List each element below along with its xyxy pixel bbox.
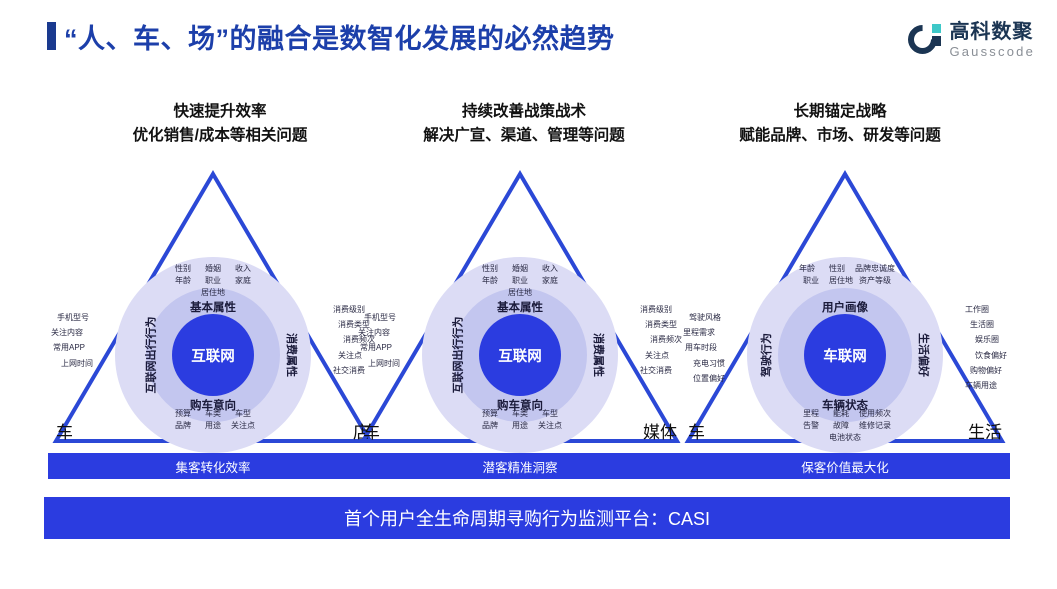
outer-label: 社交消费	[638, 363, 682, 378]
core-label: 互联网	[191, 345, 235, 366]
outer-label: 家庭	[228, 275, 258, 287]
outer-label: 告警	[796, 420, 826, 432]
footer-banner: 首个用户全生命周期寻购行为监测平台：CASI	[44, 497, 1010, 539]
ring-label-right: 消费属性	[284, 333, 300, 377]
column-header-line2: 优化销售/成本等相关问题	[70, 124, 370, 148]
triangle-corner-right-label: 生活	[968, 418, 1002, 443]
outer-label: 充电习惯	[683, 356, 725, 371]
outer-label-row: 预算车类车型	[475, 408, 565, 420]
column-header-2: 持续改善战策战术 解决广宣、渠道、管理等问题	[374, 100, 674, 148]
slide-root: “人、车、场”的融合是数智化发展的必然趋势 高科数聚 Gausscode 快速提…	[0, 0, 1057, 589]
outer-label: 收入	[228, 263, 258, 275]
outer-label: 品牌	[475, 420, 505, 432]
column-header-3: 长期锚定战略 赋能品牌、市场、研发等问题	[690, 100, 990, 148]
triangle-group-2: 人 车 媒体 互联网 基本属性 购车意向 互联网出行行为 消费属性 互联网 性别…	[355, 160, 685, 445]
outer-label-row: 年龄性别品牌忠诚度	[792, 263, 898, 275]
outer-label-row: 性别婚姻收入	[168, 263, 258, 275]
outer-label: 资产等级	[856, 275, 894, 287]
outer-label: 关注内容	[51, 325, 93, 340]
page-title: “人、车、场”的融合是数智化发展的必然趋势	[64, 17, 615, 56]
ring-core: 车联网	[804, 314, 886, 396]
outer-label-row: 告警故障维修记录	[796, 420, 894, 432]
logo-mark-icon	[908, 23, 942, 57]
outer-label: 消费类型	[638, 317, 682, 332]
outer-label: 里程	[796, 408, 826, 420]
outer-label: 车类	[198, 408, 228, 420]
column-header-line1: 快速提升效率	[70, 100, 370, 124]
triangle-corner-left-label: 车	[56, 418, 73, 443]
outer-label: 性别	[822, 263, 852, 275]
outer-label: 位置偏好	[683, 371, 725, 386]
outer-label: 手机型号	[358, 310, 400, 325]
outer-label: 车类	[505, 408, 535, 420]
outer-labels-top-2: 性别婚姻收入年龄职业家庭居住地	[475, 263, 565, 299]
ring-core: 互联网	[172, 314, 254, 396]
triangle-group-1: 人 车 店 互联网 基本属性 购车意向 互联网出行行为 消费属性 互联网 性别婚…	[48, 160, 378, 445]
outer-label: 年龄	[792, 263, 822, 275]
outer-label: 上网时间	[358, 356, 400, 371]
outer-label: 消费频次	[638, 332, 682, 347]
outer-label: 品牌忠诚度	[852, 263, 898, 275]
outer-labels-left-1: 手机型号关注内容常用APP上网时间	[51, 310, 93, 371]
outer-labels-right-2: 消费级别消费类型消费频次关注点社交消费	[638, 302, 682, 378]
outer-label: 品牌	[168, 420, 198, 432]
outer-label: 常用APP	[358, 340, 400, 355]
triangle-corner-left-label: 车	[688, 418, 705, 443]
outer-label: 收入	[535, 263, 565, 275]
outer-label-row: 性别婚姻收入	[475, 263, 565, 275]
outer-label: 性别	[168, 263, 198, 275]
company-logo: 高科数聚 Gausscode	[908, 18, 1035, 62]
outer-label: 使用频次	[856, 408, 894, 420]
core-label: 车联网	[823, 345, 867, 366]
outer-label: 能耗	[826, 408, 856, 420]
outer-label-row: 居住地	[168, 287, 258, 299]
ring-label-top: 基本属性	[422, 299, 618, 315]
outer-labels-left-2: 手机型号关注内容常用APP上网时间	[358, 310, 400, 371]
outer-label: 用途	[198, 420, 228, 432]
outer-label: 里程需求	[683, 325, 725, 340]
outer-label: 性别	[475, 263, 505, 275]
outer-label: 车型	[228, 408, 258, 420]
column-header-line1: 长期锚定战略	[690, 100, 990, 124]
logo-name-en: Gausscode	[949, 45, 1035, 58]
outer-label: 驾驶风格	[683, 310, 725, 325]
outer-label: 用途	[505, 420, 535, 432]
outer-label: 关注点	[638, 348, 682, 363]
triangle-corner-left-label: 车	[363, 418, 380, 443]
outer-label: 消费级别	[638, 302, 682, 317]
triangle-banner-3: 保客价值最大化	[680, 453, 1010, 479]
outer-label: 电池状态	[826, 432, 864, 444]
outer-label: 关注内容	[358, 325, 400, 340]
outer-label: 婚姻	[198, 263, 228, 275]
outer-labels-bottom-3: 里程能耗使用频次告警故障维修记录电池状态	[796, 408, 894, 444]
column-header-line2: 解决广宣、渠道、管理等问题	[374, 124, 674, 148]
outer-label: 家庭	[535, 275, 565, 287]
ring-label-right: 生活偏好	[916, 333, 932, 377]
outer-label-row: 年龄职业家庭	[168, 275, 258, 287]
outer-label: 婚姻	[505, 263, 535, 275]
ring-label-left: 驾驶行为	[758, 333, 774, 377]
ring-label-right: 消费属性	[591, 333, 607, 377]
outer-label: 居住地	[826, 275, 856, 287]
outer-label-row: 里程能耗使用频次	[796, 408, 894, 420]
outer-label: 年龄	[168, 275, 198, 287]
outer-label: 车辆用途	[965, 378, 1007, 393]
outer-label: 居住地	[198, 287, 228, 299]
outer-label: 车型	[535, 408, 565, 420]
outer-labels-right-3: 工作圈生活圈娱乐圈饮食偏好购物偏好车辆用途	[965, 302, 1007, 393]
slide-header: “人、车、场”的融合是数智化发展的必然趋势 高科数聚 Gausscode	[0, 0, 1057, 70]
outer-label: 上网时间	[51, 356, 93, 371]
outer-labels-left-3: 驾驶风格里程需求用车时段充电习惯位置偏好	[683, 310, 725, 386]
ring-label-top: 用户画像	[747, 299, 943, 315]
outer-label-row: 居住地	[475, 287, 565, 299]
outer-labels-bottom-1: 预算车类车型品牌用途关注点	[168, 408, 258, 432]
outer-label-row: 职业居住地资产等级	[792, 275, 898, 287]
column-header-line2: 赋能品牌、市场、研发等问题	[690, 124, 990, 148]
triangle-banner-2: 潜客精准洞察	[355, 453, 685, 479]
ring-label-left: 互联网出行行为	[143, 317, 159, 394]
outer-label: 故障	[826, 420, 856, 432]
outer-label: 手机型号	[51, 310, 93, 325]
outer-label-row: 预算车类车型	[168, 408, 258, 420]
triangle-group-3: 人 车 生活 车联网 用户画像 车辆状态 驾驶行为 生活偏好 车联网 年龄性别品…	[680, 160, 1010, 445]
ring-label-top: 基本属性	[115, 299, 311, 315]
outer-label-row: 品牌用途关注点	[475, 420, 565, 432]
outer-label-row: 年龄职业家庭	[475, 275, 565, 287]
outer-labels-top-1: 性别婚姻收入年龄职业家庭居住地	[168, 263, 258, 299]
triangle-banner-1: 集客转化效率	[48, 453, 378, 479]
outer-label: 娱乐圈	[965, 332, 1007, 347]
outer-label: 预算	[475, 408, 505, 420]
outer-label: 生活圈	[965, 317, 1007, 332]
outer-label-row: 品牌用途关注点	[168, 420, 258, 432]
outer-labels-bottom-2: 预算车类车型品牌用途关注点	[475, 408, 565, 432]
outer-label: 用车时段	[683, 340, 725, 355]
outer-label: 预算	[168, 408, 198, 420]
outer-label: 关注点	[228, 420, 258, 432]
ring-core: 互联网	[479, 314, 561, 396]
outer-label: 常用APP	[51, 340, 93, 355]
outer-label: 职业	[796, 275, 826, 287]
outer-label: 关注点	[535, 420, 565, 432]
outer-label: 居住地	[505, 287, 535, 299]
triangle-corner-right-label: 媒体	[643, 418, 677, 443]
outer-label: 维修记录	[856, 420, 894, 432]
outer-label-row: 电池状态	[796, 432, 894, 444]
ring-label-left: 互联网出行行为	[450, 317, 466, 394]
logo-name-cn: 高科数聚	[949, 22, 1035, 42]
outer-label: 购物偏好	[965, 363, 1007, 378]
outer-label: 职业	[505, 275, 535, 287]
outer-label: 饮食偏好	[965, 348, 1007, 363]
outer-label: 职业	[198, 275, 228, 287]
column-header-line1: 持续改善战策战术	[374, 100, 674, 124]
column-header-1: 快速提升效率 优化销售/成本等相关问题	[70, 100, 370, 148]
title-accent-bar	[47, 22, 56, 50]
outer-label: 工作圈	[965, 302, 1007, 317]
outer-labels-top-3: 年龄性别品牌忠诚度职业居住地资产等级	[792, 263, 898, 287]
core-label: 互联网	[498, 345, 542, 366]
outer-label: 年龄	[475, 275, 505, 287]
